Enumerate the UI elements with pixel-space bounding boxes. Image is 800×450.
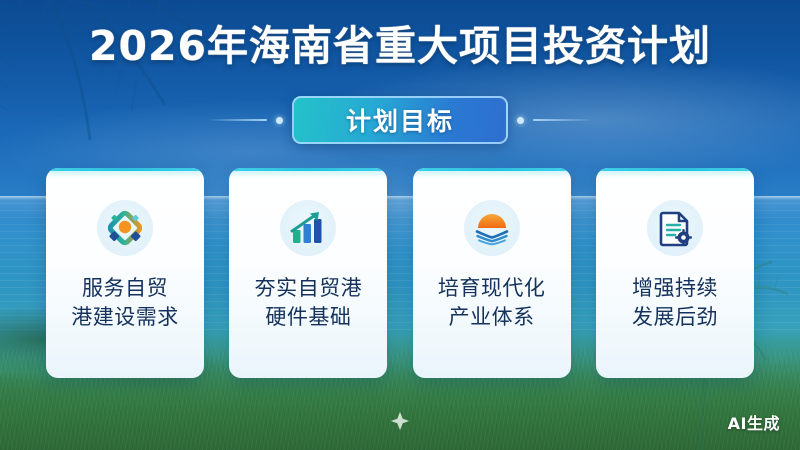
goal-card-4-label: 增强持续 发展后劲	[609, 274, 741, 332]
goal-card-list: 服务自贸 港建设需求 夯实自贸港 硬件基础	[46, 168, 754, 378]
goal-card-1-label: 服务自贸 港建设需求	[59, 274, 191, 332]
poster-canvas: 2026年海南省重大项目投资计划 计划目标	[0, 0, 800, 450]
sparkle-diamond-icon	[389, 410, 411, 432]
subtitle-badge-row: 计划目标	[0, 98, 800, 142]
goal-card-3-label: 培育现代化 产业体系	[426, 274, 558, 332]
goal-card-3-line1: 培育现代化	[426, 274, 558, 303]
page-title: 2026年海南省重大项目投资计划	[0, 21, 800, 71]
goal-card-1-line1: 服务自贸	[59, 274, 191, 303]
goal-card-1-line2: 港建设需求	[59, 303, 191, 332]
sunrise-waves-icon	[464, 200, 520, 256]
goal-card-2-label: 夯实自贸港 硬件基础	[242, 274, 374, 332]
plan-goal-badge: 计划目标	[292, 96, 508, 144]
diamond-exchange-icon	[97, 200, 153, 256]
decoration-dot-left	[276, 117, 283, 124]
goal-card-1[interactable]: 服务自贸 港建设需求	[46, 168, 204, 378]
ai-watermark: AI生成	[728, 410, 780, 434]
decoration-line-left	[209, 119, 267, 121]
goal-card-2-line2: 硬件基础	[242, 303, 374, 332]
goal-card-2[interactable]: 夯实自贸港 硬件基础	[229, 168, 387, 378]
goal-card-4-line2: 发展后劲	[609, 303, 741, 332]
growth-bar-chart-icon	[280, 200, 336, 256]
goal-card-4-line1: 增强持续	[609, 274, 741, 303]
decoration-right	[508, 117, 591, 124]
goal-card-4[interactable]: 增强持续 发展后劲	[596, 168, 754, 378]
decoration-left	[209, 117, 292, 124]
document-gear-icon	[647, 200, 703, 256]
decoration-dot-right	[517, 117, 524, 124]
goal-card-3-line2: 产业体系	[426, 303, 558, 332]
goal-card-2-line1: 夯实自贸港	[242, 274, 374, 303]
goal-card-3[interactable]: 培育现代化 产业体系	[413, 168, 571, 378]
decoration-line-right	[533, 119, 591, 121]
